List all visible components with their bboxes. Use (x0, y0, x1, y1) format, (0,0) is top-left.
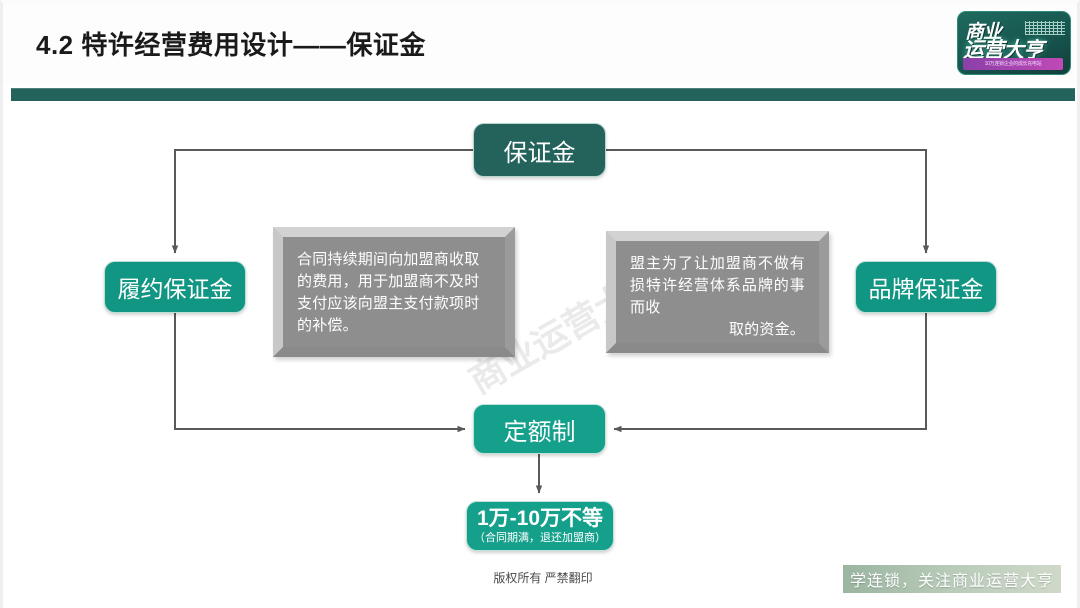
cta-banner: 学连锁，关注商业运营大亨 (843, 565, 1061, 593)
description-text-left: 合同持续期间向加盟商收取的费用，用于加盟商不及时支付应该向盟主支付款项时的补偿。 (283, 237, 505, 347)
slide: 4.2 特许经营费用设计——保证金 商业 运营大亨 10万连锁企业的成长充电站 … (0, 0, 1080, 608)
slide-header: 4.2 特许经营费用设计——保证金 商业 运营大亨 10万连锁企业的成长充电站 (3, 3, 1080, 85)
page-title: 4.2 特许经营费用设计——保证金 (36, 25, 426, 62)
description-text-right: 盟主为了让加盟商不做有损特许经营体系品牌的事而收取的资金。 (616, 241, 819, 343)
diagram-canvas: 商业运营大亨 (3, 101, 1080, 561)
logo-hatch-decoration (1025, 21, 1065, 35)
node-quota-system-label: 定额制 (504, 412, 576, 447)
node-brand-deposit-label: 品牌保证金 (869, 270, 984, 304)
node-performance-deposit-label: 履约保证金 (118, 270, 233, 304)
description-box-right: 盟主为了让加盟商不做有损特许经营体系品牌的事而收取的资金。 (606, 231, 829, 353)
brand-logo: 商业 运营大亨 10万连锁企业的成长充电站 (957, 11, 1071, 75)
description-right-line2: 特许经营体系品牌的事而收 (630, 277, 805, 316)
node-amount-main-label: 1万-10万不等 (477, 507, 603, 531)
node-amount-range[interactable]: 1万-10万不等 （合同期满，退还加盟商） (466, 501, 614, 551)
node-amount-sub-label: （合同期满，退还加盟商） (474, 531, 606, 545)
node-deposit-root-label: 保证金 (504, 133, 576, 168)
description-right-line3: 取的资金。 (630, 319, 805, 341)
node-brand-deposit[interactable]: 品牌保证金 (855, 261, 997, 313)
node-performance-deposit[interactable]: 履约保证金 (104, 261, 246, 313)
node-quota-system[interactable]: 定额制 (473, 404, 606, 454)
description-box-left: 合同持续期间向加盟商收取的费用，用于加盟商不及时支付应该向盟主支付款项时的补偿。 (273, 227, 515, 357)
cta-banner-text: 学连锁，关注商业运营大亨 (850, 567, 1054, 591)
title-divider-bar (11, 88, 1075, 101)
node-deposit-root[interactable]: 保证金 (473, 123, 606, 177)
logo-banner: 10万连锁企业的成长充电站 (963, 58, 1063, 70)
logo-banner-text: 10万连锁企业的成长充电站 (963, 58, 1063, 70)
